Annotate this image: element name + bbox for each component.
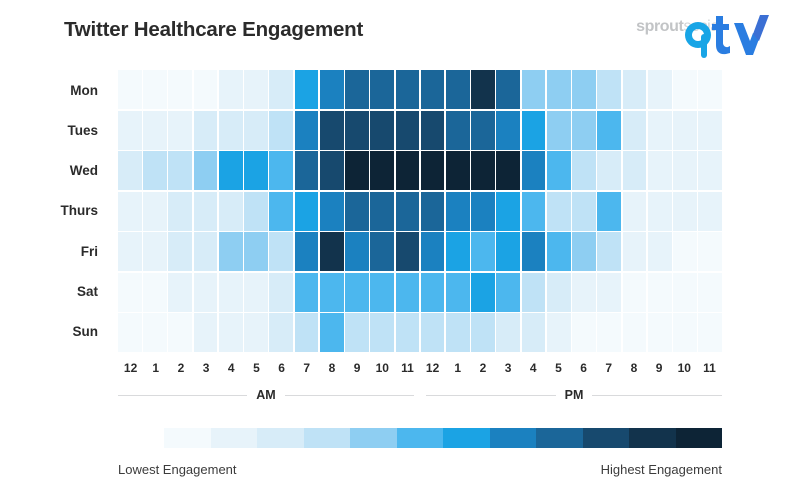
heatmap-cell: [219, 111, 243, 150]
legend-labels: Lowest Engagement Highest Engagement: [118, 462, 722, 477]
heatmap-cell: [648, 70, 672, 109]
heatmap-cell: [244, 313, 268, 352]
heatmap-cell: [471, 232, 495, 271]
heatmap-cell: [219, 313, 243, 352]
heatmap-cell: [597, 151, 621, 190]
heatmap-cell: [421, 232, 445, 271]
page-title: Twitter Healthcare Engagement: [64, 18, 363, 42]
heatmap-cell: [446, 273, 470, 312]
heatmap-cell: [673, 111, 697, 150]
heatmap-cell: [673, 151, 697, 190]
heatmap-cell: [219, 70, 243, 109]
heatmap-cell: [143, 273, 167, 312]
heatmap-cell: [269, 192, 293, 231]
heatmap-cell: [496, 70, 520, 109]
heatmap-cell: [370, 151, 394, 190]
heatmap-cell: [496, 111, 520, 150]
heatmap-cell: [446, 192, 470, 231]
heatmap-cell: [396, 273, 420, 312]
heatmap-cell: [673, 232, 697, 271]
heatmap-cell: [623, 70, 647, 109]
legend-swatch-5: [350, 428, 396, 448]
heatmap-cell: [396, 313, 420, 352]
heatmap-cell: [244, 232, 268, 271]
heatmap-cell: [244, 273, 268, 312]
heatmap-cell: [370, 273, 394, 312]
heatmap-cell: [320, 151, 344, 190]
heatmap-cell: [168, 232, 192, 271]
heatmap-cell: [572, 192, 596, 231]
day-label-thurs: Thurs: [40, 191, 108, 231]
heatmap-cell: [496, 273, 520, 312]
day-label-tues: Tues: [40, 110, 108, 150]
heatmap-cell: [320, 232, 344, 271]
hour-label-14: 2: [470, 358, 495, 378]
heatmap-cell: [698, 313, 722, 352]
heatmap-cell: [572, 70, 596, 109]
heatmap-cell: [194, 111, 218, 150]
heatmap-cell: [168, 273, 192, 312]
heatmap-cell: [673, 70, 697, 109]
heatmap-cell: [269, 313, 293, 352]
legend-swatch-6: [397, 428, 443, 448]
heatmap-cell: [421, 313, 445, 352]
day-axis-labels: MonTuesWedThursFriSatSun: [40, 70, 108, 352]
heatmap-cell: [194, 232, 218, 271]
heatmap-cell: [396, 151, 420, 190]
heatmap-cell: [345, 70, 369, 109]
heatmap-cell: [471, 151, 495, 190]
day-label-fri: Fri: [40, 231, 108, 271]
hour-label-17: 5: [546, 358, 571, 378]
hour-label-6: 6: [269, 358, 294, 378]
heatmap-cell: [370, 232, 394, 271]
heatmap-cell: [597, 232, 621, 271]
heatmap-cell: [168, 151, 192, 190]
heatmap-cell: [370, 70, 394, 109]
heatmap-cell: [446, 232, 470, 271]
heatmap-cell: [168, 70, 192, 109]
pm-group: PM: [426, 384, 722, 406]
legend-swatch-0: [118, 428, 164, 448]
heatmap-cell: [143, 151, 167, 190]
ampm-axis: AM PM: [118, 384, 722, 406]
heatmap-cell: [295, 111, 319, 150]
day-label-sat: Sat: [40, 271, 108, 311]
am-label: AM: [247, 388, 284, 402]
heatmap-cell: [471, 192, 495, 231]
hour-label-0: 12: [118, 358, 143, 378]
am-rule-left: [118, 395, 247, 396]
hour-label-13: 1: [445, 358, 470, 378]
legend-swatch-4: [304, 428, 350, 448]
heatmap-cell: [295, 232, 319, 271]
heatmap-cell: [320, 111, 344, 150]
hour-label-11: 11: [395, 358, 420, 378]
am-rule-right: [285, 395, 414, 396]
hour-label-4: 4: [219, 358, 244, 378]
legend-highest-label: Highest Engagement: [601, 462, 722, 477]
heatmap-cell: [118, 313, 142, 352]
heatmap-cell: [547, 70, 571, 109]
legend-swatch-11: [629, 428, 675, 448]
heatmap-cell: [648, 273, 672, 312]
hour-label-3: 3: [193, 358, 218, 378]
legend-gradient-bar: [118, 428, 722, 448]
heatmap-cell: [295, 273, 319, 312]
heatmap-chart: Twitter Healthcare Engagement sproutsoci…: [0, 0, 800, 500]
pm-rule-left: [426, 395, 556, 396]
hour-label-12: 12: [420, 358, 445, 378]
heatmap-cell: [572, 151, 596, 190]
heatmap-cell: [269, 111, 293, 150]
heatmap-cell: [648, 111, 672, 150]
heatmap-grid: [118, 70, 722, 352]
heatmap-cell: [168, 313, 192, 352]
pm-label: PM: [556, 388, 593, 402]
heatmap-cell: [269, 70, 293, 109]
heatmap-cell: [446, 70, 470, 109]
hour-label-20: 8: [621, 358, 646, 378]
heatmap-cell: [522, 313, 546, 352]
heatmap-cell: [118, 151, 142, 190]
heatmap-cell: [219, 151, 243, 190]
heatmap-cell: [244, 111, 268, 150]
heatmap-cell: [597, 111, 621, 150]
heatmap-cell: [421, 70, 445, 109]
hour-label-22: 10: [672, 358, 697, 378]
heatmap-cell: [295, 313, 319, 352]
heatmap-cell: [648, 313, 672, 352]
hour-label-2: 2: [168, 358, 193, 378]
heatmap-cell: [547, 313, 571, 352]
heatmap-cell: [597, 70, 621, 109]
day-label-mon: Mon: [40, 70, 108, 110]
hour-label-9: 9: [344, 358, 369, 378]
hour-label-10: 10: [370, 358, 395, 378]
heatmap-cell: [345, 111, 369, 150]
legend-swatch-7: [443, 428, 489, 448]
heatmap-cell: [471, 273, 495, 312]
legend-swatch-9: [536, 428, 582, 448]
heatmap-cell: [496, 313, 520, 352]
heatmap-cell: [269, 273, 293, 312]
heatmap-cell: [219, 273, 243, 312]
hour-label-21: 9: [646, 358, 671, 378]
heatmap-cell: [698, 232, 722, 271]
legend-swatch-12: [676, 428, 722, 448]
heatmap-cell: [295, 151, 319, 190]
heatmap-cell: [623, 313, 647, 352]
heatmap-cell: [572, 232, 596, 271]
heatmap-cell: [118, 273, 142, 312]
heatmap-cell: [673, 273, 697, 312]
heatmap-cell: [320, 273, 344, 312]
day-label-wed: Wed: [40, 151, 108, 191]
heatmap-cell: [597, 192, 621, 231]
heatmap-cell: [345, 232, 369, 271]
heatmap-cell: [396, 232, 420, 271]
heatmap-cell: [244, 151, 268, 190]
heatmap-cell: [219, 192, 243, 231]
heatmap-cell: [370, 111, 394, 150]
legend-swatch-2: [211, 428, 257, 448]
heatmap-cell: [648, 232, 672, 271]
heatmap-cell: [421, 151, 445, 190]
legend-swatch-10: [583, 428, 629, 448]
heatmap-cell: [522, 232, 546, 271]
heatmap-cell: [623, 111, 647, 150]
heatmap-cell: [471, 111, 495, 150]
heatmap-cell: [623, 273, 647, 312]
hour-label-23: 11: [697, 358, 722, 378]
heatmap-cell: [320, 192, 344, 231]
heatmap-cell: [345, 313, 369, 352]
heatmap-cell: [143, 70, 167, 109]
heatmap-cell: [194, 151, 218, 190]
heatmap-cell: [295, 192, 319, 231]
hour-label-15: 3: [495, 358, 520, 378]
heatmap-cell: [673, 192, 697, 231]
heatmap-cell: [194, 273, 218, 312]
heatmap-cell: [269, 151, 293, 190]
heatmap-cell: [118, 192, 142, 231]
heatmap-cell: [194, 192, 218, 231]
heatmap-cell: [547, 192, 571, 231]
pm-rule-right: [592, 395, 722, 396]
heatmap-cell: [496, 151, 520, 190]
heatmap-cell: [269, 232, 293, 271]
heatmap-cell: [421, 192, 445, 231]
heatmap-cell: [345, 151, 369, 190]
hour-label-16: 4: [521, 358, 546, 378]
heatmap-cell: [143, 111, 167, 150]
legend-lowest-label: Lowest Engagement: [118, 462, 237, 477]
hour-label-19: 7: [596, 358, 621, 378]
heatmap-cell: [471, 313, 495, 352]
heatmap-cell: [471, 70, 495, 109]
heatmap-cell: [446, 313, 470, 352]
heatmap-cell: [370, 192, 394, 231]
heatmap-cell: [496, 192, 520, 231]
heatmap-cell: [547, 273, 571, 312]
heatmap-cell: [522, 151, 546, 190]
heatmap-cell: [623, 151, 647, 190]
heatmap-cell: [597, 313, 621, 352]
heatmap-cell: [421, 111, 445, 150]
heatmap-cell: [421, 273, 445, 312]
heatmap-cell: [118, 111, 142, 150]
heatmap-cell: [194, 313, 218, 352]
heatmap-plot-area: [118, 70, 722, 352]
heatmap-cell: [118, 70, 142, 109]
heatmap-cell: [244, 70, 268, 109]
heatmap-cell: [698, 273, 722, 312]
heatmap-cell: [698, 151, 722, 190]
heatmap-cell: [370, 313, 394, 352]
hour-label-8: 8: [319, 358, 344, 378]
heatmap-cell: [118, 232, 142, 271]
hour-axis-labels: 121234567891011121234567891011: [118, 358, 722, 378]
heatmap-cell: [572, 313, 596, 352]
heatmap-cell: [522, 111, 546, 150]
heatmap-cell: [143, 192, 167, 231]
heatmap-cell: [522, 273, 546, 312]
am-group: AM: [118, 384, 414, 406]
day-label-sun: Sun: [40, 312, 108, 352]
heatmap-cell: [345, 273, 369, 312]
heatmap-cell: [547, 232, 571, 271]
heatmap-cell: [345, 192, 369, 231]
gtv-logo-icon: [668, 6, 778, 62]
heatmap-cell: [648, 192, 672, 231]
hour-label-18: 6: [571, 358, 596, 378]
heatmap-cell: [673, 313, 697, 352]
hour-label-5: 5: [244, 358, 269, 378]
heatmap-cell: [572, 273, 596, 312]
heatmap-cell: [648, 151, 672, 190]
heatmap-cell: [623, 192, 647, 231]
legend-swatch-8: [490, 428, 536, 448]
heatmap-cell: [320, 313, 344, 352]
heatmap-cell: [698, 111, 722, 150]
legend: Lowest Engagement Highest Engagement: [118, 428, 722, 477]
heatmap-cell: [168, 192, 192, 231]
heatmap-cell: [698, 192, 722, 231]
heatmap-cell: [295, 70, 319, 109]
heatmap-cell: [698, 70, 722, 109]
heatmap-cell: [396, 70, 420, 109]
heatmap-cell: [446, 111, 470, 150]
heatmap-cell: [522, 70, 546, 109]
heatmap-cell: [143, 232, 167, 271]
heatmap-cell: [320, 70, 344, 109]
heatmap-cell: [597, 273, 621, 312]
heatmap-cell: [446, 151, 470, 190]
heatmap-cell: [219, 232, 243, 271]
heatmap-cell: [522, 192, 546, 231]
heatmap-cell: [623, 232, 647, 271]
legend-swatch-3: [257, 428, 303, 448]
heatmap-cell: [194, 70, 218, 109]
heatmap-cell: [496, 232, 520, 271]
heatmap-cell: [572, 111, 596, 150]
heatmap-cell: [396, 111, 420, 150]
hour-label-7: 7: [294, 358, 319, 378]
heatmap-cell: [547, 151, 571, 190]
heatmap-cell: [547, 111, 571, 150]
heatmap-cell: [143, 313, 167, 352]
legend-swatch-1: [164, 428, 210, 448]
heatmap-cell: [168, 111, 192, 150]
heatmap-cell: [396, 192, 420, 231]
hour-label-1: 1: [143, 358, 168, 378]
heatmap-cell: [244, 192, 268, 231]
